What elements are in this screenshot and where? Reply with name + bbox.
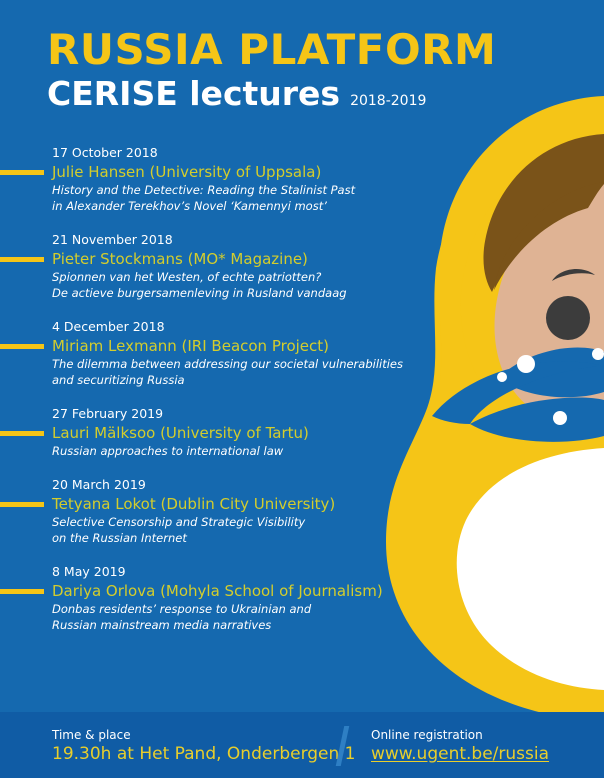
dash-marker-icon — [0, 502, 44, 507]
lecture-date: 21 November 2018 — [52, 232, 430, 248]
lecture-description-line: and securitizing Russia — [52, 373, 430, 388]
registration-label: Online registration — [371, 727, 549, 743]
academic-year-label: 2018-2019 — [350, 93, 426, 109]
list-item: 4 December 2018 Miriam Lexmann (IRI Beac… — [0, 319, 430, 388]
lecture-list: 17 October 2018 Julie Hansen (University… — [0, 145, 430, 651]
leaf-dot — [517, 355, 535, 373]
lecture-description-line: in Alexander Terekhov’s Novel ‘Kamennyi … — [52, 199, 430, 214]
dash-marker-icon — [0, 589, 44, 594]
page-title: RUSSIA PLATFORM — [47, 27, 477, 73]
dash-marker-icon — [0, 170, 44, 175]
time-place-block: Time & place 19.30h at Het Pand, Onderbe… — [52, 727, 356, 766]
leaf-dot — [592, 348, 604, 360]
dash-marker-icon — [0, 344, 44, 349]
lecture-date: 20 March 2019 — [52, 477, 430, 493]
doll-apron — [457, 448, 604, 690]
doll-headscarf — [430, 96, 604, 421]
lecture-speaker: Dariya Orlova (Mohyla School of Journali… — [52, 582, 430, 601]
leaf-dot — [553, 411, 567, 425]
page-subtitle: CERISE lectures — [47, 75, 340, 112]
list-item: 17 October 2018 Julie Hansen (University… — [0, 145, 430, 214]
list-item: 21 November 2018 Pieter Stockmans (MO* M… — [0, 232, 430, 301]
doll-hair — [483, 134, 604, 292]
lecture-date: 4 December 2018 — [52, 319, 430, 335]
lecture-description-line: History and the Detective: Reading the S… — [52, 183, 430, 198]
lecture-description-line: The dilemma between addressing our socie… — [52, 357, 430, 372]
dash-marker-icon — [0, 431, 44, 436]
list-item: 27 February 2019 Lauri Mälksoo (Universi… — [0, 406, 430, 459]
subtitle-row: CERISE lectures 2018-2019 — [47, 75, 477, 112]
lecture-date: 17 October 2018 — [52, 145, 430, 161]
poster-footer: Time & place 19.30h at Het Pand, Onderbe… — [0, 712, 604, 778]
lecture-description-line: Spionnen van het Westen, of echte patrio… — [52, 270, 430, 285]
doll-mouth — [577, 366, 604, 392]
lecture-speaker: Tetyana Lokot (Dublin City University) — [52, 495, 430, 514]
doll-eye — [546, 296, 590, 340]
lecture-speaker: Pieter Stockmans (MO* Magazine) — [52, 250, 430, 269]
poster-canvas: RUSSIA PLATFORM CERISE lectures 2018-201… — [0, 0, 604, 778]
dash-marker-icon — [0, 257, 44, 262]
lecture-speaker: Miriam Lexmann (IRI Beacon Project) — [52, 337, 430, 356]
registration-block: Online registration www.ugent.be/russia — [371, 727, 549, 766]
doll-face — [494, 182, 604, 428]
time-place-value: 19.30h at Het Pand, Onderbergen 1 — [52, 743, 356, 766]
lecture-date: 27 February 2019 — [52, 406, 430, 422]
list-item: 20 March 2019 Tetyana Lokot (Dublin City… — [0, 477, 430, 546]
lecture-description-line: Selective Censorship and Strategic Visib… — [52, 515, 430, 530]
lecture-description-line: De actieve burgersamenleving in Rusland … — [52, 286, 430, 301]
lecture-description-line: on the Russian Internet — [52, 531, 430, 546]
lecture-description-line: Russian approaches to international law — [52, 444, 430, 459]
registration-url-link[interactable]: www.ugent.be/russia — [371, 743, 549, 766]
lecture-description-line: Russian mainstream media narratives — [52, 618, 430, 633]
poster-header: RUSSIA PLATFORM CERISE lectures 2018-201… — [47, 27, 477, 112]
doll-eyebrow — [552, 269, 595, 281]
leaf-dot — [497, 372, 507, 382]
lecture-date: 8 May 2019 — [52, 564, 430, 580]
lecture-speaker: Julie Hansen (University of Uppsala) — [52, 163, 430, 182]
doll-leaf-decoration — [432, 348, 604, 442]
lecture-speaker: Lauri Mälksoo (University of Tartu) — [52, 424, 430, 443]
time-place-label: Time & place — [52, 727, 356, 743]
lecture-description-line: Donbas residents’ response to Ukrainian … — [52, 602, 430, 617]
list-item: 8 May 2019 Dariya Orlova (Mohyla School … — [0, 564, 430, 633]
